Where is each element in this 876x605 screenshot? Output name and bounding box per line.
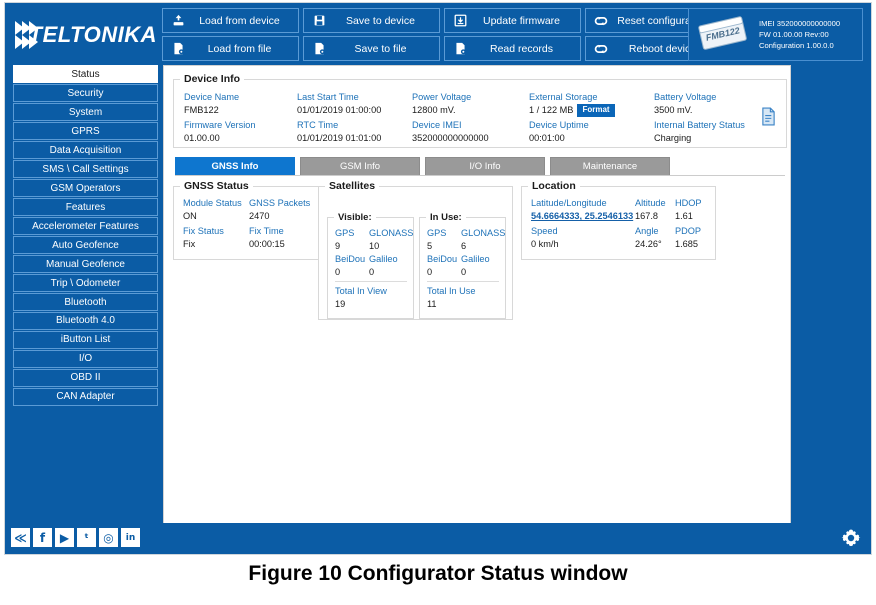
visible-glonass-label: GLONASS (369, 227, 413, 240)
configurator-window: TELTONIKA Load from device Save to devic… (4, 2, 872, 555)
inuse-galileo-field: Galileo 0 (461, 253, 505, 279)
hdop-value: 1.61 (675, 210, 715, 223)
imei-value: 352000000000000 (777, 19, 840, 28)
sidebar-item-security[interactable]: Security (13, 84, 158, 102)
format-button[interactable]: Format (577, 104, 614, 117)
satellites-in-use-title: In Use: (426, 212, 466, 223)
status-tabs: GNSS Info GSM Info I/O Info Maintenance (175, 156, 785, 176)
document-icon[interactable] (761, 107, 776, 131)
pdop-label: PDOP (675, 225, 715, 238)
device-imei-field: Device IMEI 352000000000000 (412, 119, 529, 147)
latlon-label: Latitude/Longitude (531, 197, 635, 210)
speed-value: 0 km/h (531, 238, 635, 251)
rtc-time-label: RTC Time (297, 119, 412, 132)
external-storage-label: External Storage (529, 91, 654, 104)
logo-text: TELTONIKA (29, 22, 157, 48)
gnss-packets-value: 2470 (249, 210, 319, 223)
device-name-value: FMB122 (184, 104, 297, 117)
sidebar-item-bluetooth[interactable]: Bluetooth (13, 293, 158, 311)
inuse-glonass-label: GLONASS (461, 227, 505, 240)
last-start-time-label: Last Start Time (297, 91, 412, 104)
sidebar-item-features[interactable]: Features (13, 198, 158, 216)
satellites-visible-group: Visible: GPS 9 GLONASS 10 BeiDou (327, 212, 414, 319)
gnss-status-grid: Module Status ON GNSS Packets 2470 Fix S… (174, 192, 319, 251)
load-from-device-button[interactable]: Load from device (162, 8, 299, 33)
app-header: TELTONIKA Load from device Save to devic… (5, 3, 871, 65)
sidebar-item-system[interactable]: System (13, 103, 158, 121)
location-grid: Latitude/Longitude 54.6664333, 25.254613… (522, 192, 715, 251)
visible-beidou-value: 0 (335, 266, 369, 279)
total-in-use-label: Total In Use (427, 285, 499, 298)
power-voltage-value: 12800 mV. (412, 104, 529, 117)
teltonika-chevrons-icon (15, 18, 28, 52)
sidebar-item-gsm-operators[interactable]: GSM Operators (13, 179, 158, 197)
rtc-time-value: 01/01/2019 01:01:00 (297, 132, 412, 145)
imei-key: IMEI (759, 18, 775, 29)
speed-label: Speed (531, 225, 635, 238)
visible-galileo-label: Galileo (369, 253, 413, 266)
total-in-use-value: 11 (427, 298, 499, 311)
visible-galileo-value: 0 (369, 266, 413, 279)
visible-gps-field: GPS 9 (335, 227, 369, 253)
latlon-value-link[interactable]: 54.6664333, 25.2546133 (531, 210, 635, 223)
device-uptime-label: Device Uptime (529, 119, 654, 132)
visible-glonass-value: 10 (369, 240, 413, 253)
last-start-time-field: Last Start Time 01/01/2019 01:00:00 (297, 91, 412, 119)
cfg-value: 1.00.0.0 (806, 41, 833, 50)
device-summary-box: FMB122 IMEI 352000000000000 FW 01.00.00 … (688, 8, 863, 61)
inuse-glonass-value: 6 (461, 240, 505, 253)
satellites-panel: Satellites Visible: GPS 9 GLONASS 10 (318, 180, 513, 320)
upload-device-icon (169, 13, 187, 29)
satellites-title: Satellites (325, 180, 379, 192)
device-name-field: Device Name FMB122 (184, 91, 297, 119)
fw-key: FW (759, 29, 771, 40)
cfg-key: Configuration (759, 40, 804, 51)
satellites-in-use-grid: GPS 5 GLONASS 6 BeiDou 0 (420, 223, 505, 279)
save-to-file-button[interactable]: Save to file (303, 36, 440, 61)
external-storage-field: External Storage 1 / 122 MB Format (529, 91, 654, 119)
inuse-gps-value: 5 (427, 240, 461, 253)
device-meta: IMEI 352000000000000 FW 01.00.00 Rev:00 … (757, 18, 862, 51)
instagram-icon[interactable]: ◎ (99, 528, 118, 547)
rtc-time-field: RTC Time 01/01/2019 01:01:00 (297, 119, 412, 147)
pdop-value: 1.685 (675, 238, 715, 251)
device-imei-label: Device IMEI (412, 119, 529, 132)
figure-caption: Figure 10 Configurator Status window (0, 562, 876, 586)
screenshot-root: TELTONIKA Load from device Save to devic… (0, 0, 876, 605)
inuse-gps-field: GPS 5 (427, 227, 461, 253)
inuse-beidou-field: BeiDou 0 (427, 253, 461, 279)
total-in-use-field: Total In Use 11 (427, 281, 499, 311)
visible-beidou-field: BeiDou 0 (335, 253, 369, 279)
fw-value: 01.00.00 Rev:00 (773, 30, 829, 39)
device-info-grid: Device Name FMB122 Last Start Time 01/01… (174, 85, 786, 147)
update-firmware-button[interactable]: Update firmware (444, 8, 581, 33)
pdop-field: PDOP 1.685 (675, 225, 715, 251)
sidebar-item-gprs[interactable]: GPRS (13, 122, 158, 140)
gear-icon[interactable] (841, 528, 861, 548)
reset-loop-icon (592, 13, 610, 29)
total-in-view-field: Total In View 19 (335, 281, 407, 311)
internal-battery-status-value: Charging (654, 132, 784, 145)
gnss-status-title: GNSS Status (180, 180, 253, 192)
altitude-value: 167.8 (635, 210, 675, 223)
tab-maintenance[interactable]: Maintenance (550, 157, 670, 175)
last-start-time-value: 01/01/2019 01:00:00 (297, 104, 412, 117)
tab-gsm-info[interactable]: GSM Info (300, 157, 420, 175)
altitude-field: Altitude 167.8 (635, 197, 675, 225)
reboot-loop-icon (592, 41, 610, 57)
save-to-device-button[interactable]: Save to device (303, 8, 440, 33)
fix-time-field: Fix Time 00:00:15 (249, 225, 319, 251)
device-info-title: Device Info (180, 73, 244, 85)
load-from-file-button[interactable]: Load from file (162, 36, 299, 61)
fix-status-label: Fix Status (183, 225, 249, 238)
save-disk-icon (310, 13, 328, 29)
fix-time-value: 00:00:15 (249, 238, 319, 251)
inuse-beidou-value: 0 (427, 266, 461, 279)
inuse-beidou-label: BeiDou (427, 253, 461, 266)
read-records-button[interactable]: Read records (444, 36, 581, 61)
battery-voltage-label: Battery Voltage (654, 91, 784, 104)
angle-label: Angle (635, 225, 675, 238)
angle-field: Angle 24.26° (635, 225, 675, 251)
firmware-version-value: 01.00.00 (184, 132, 297, 145)
sidebar-item-obd-ii[interactable]: OBD II (13, 369, 158, 387)
speed-field: Speed 0 km/h (531, 225, 635, 251)
read-records-label: Read records (473, 43, 580, 55)
fix-status-field: Fix Status Fix (183, 225, 249, 251)
visible-gps-value: 9 (335, 240, 369, 253)
teltonika-logo: TELTONIKA (11, 15, 157, 55)
inuse-galileo-label: Galileo (461, 253, 505, 266)
inuse-gps-label: GPS (427, 227, 461, 240)
firmware-version-label: Firmware Version (184, 119, 297, 132)
device-uptime-value: 00:01:00 (529, 132, 654, 145)
device-photo-icon: FMB122 (691, 13, 757, 57)
device-info-panel: Device Info Device Name FMB122 Last Star… (173, 73, 787, 148)
sidebar-nav: Status Security System GPRS Data Acquisi… (13, 65, 158, 407)
tab-gnss-info[interactable]: GNSS Info (175, 157, 295, 175)
sidebar-item-status[interactable]: Status (13, 65, 158, 83)
twitter-icon[interactable]: ᵗ (77, 528, 96, 547)
location-title: Location (528, 180, 580, 192)
satellites-visible-grid: GPS 9 GLONASS 10 BeiDou 0 (328, 223, 413, 279)
sidebar-item-data-acquisition[interactable]: Data Acquisition (13, 141, 158, 159)
load-from-device-label: Load from device (191, 15, 298, 27)
visible-glonass-field: GLONASS 10 (369, 227, 413, 253)
status-content-panel: Device Info Device Name FMB122 Last Star… (163, 65, 791, 525)
device-name-label: Device Name (184, 91, 297, 104)
app-footer: ≪ f ▶ ᵗ ◎ in (5, 523, 872, 554)
total-in-view-value: 19 (335, 298, 407, 311)
load-from-file-label: Load from file (191, 43, 298, 55)
power-voltage-field: Power Voltage 12800 mV. (412, 91, 529, 119)
sidebar-item-ibutton-list[interactable]: iButton List (13, 331, 158, 349)
teltonika-icon[interactable]: ≪ (11, 528, 30, 547)
device-imei-value: 352000000000000 (412, 132, 529, 145)
total-in-view-label: Total In View (335, 285, 407, 298)
location-panel: Location Latitude/Longitude 54.6664333, … (521, 180, 716, 260)
sidebar-item-sms-call-settings[interactable]: SMS \ Call Settings (13, 160, 158, 178)
fix-time-label: Fix Time (249, 225, 319, 238)
download-box-icon (451, 13, 469, 29)
gnss-packets-label: GNSS Packets (249, 197, 319, 210)
file-records-icon (451, 41, 469, 57)
device-uptime-field: Device Uptime 00:01:00 (529, 119, 654, 147)
fix-status-value: Fix (183, 238, 249, 251)
firmware-version-field: Firmware Version 01.00.00 (184, 119, 297, 147)
inuse-glonass-field: GLONASS 6 (461, 227, 505, 253)
satellites-visible-title: Visible: (334, 212, 376, 223)
sidebar-item-manual-geofence[interactable]: Manual Geofence (13, 255, 158, 273)
module-status-label: Module Status (183, 197, 249, 210)
external-storage-value-row: 1 / 122 MB Format (529, 104, 654, 117)
save-to-device-label: Save to device (332, 15, 439, 27)
sidebar-item-accelerometer-features[interactable]: Accelerometer Features (13, 217, 158, 235)
gnss-status-panel: GNSS Status Module Status ON GNSS Packet… (173, 180, 320, 260)
sidebar-item-auto-geofence[interactable]: Auto Geofence (13, 236, 158, 254)
sidebar-item-io[interactable]: I/O (13, 350, 158, 368)
visible-galileo-field: Galileo 0 (369, 253, 413, 279)
module-status-field: Module Status ON (183, 197, 249, 225)
altitude-label: Altitude (635, 197, 675, 210)
sidebar-item-can-adapter[interactable]: CAN Adapter (13, 388, 158, 406)
facebook-icon[interactable]: f (33, 528, 52, 547)
file-save-icon (310, 41, 328, 57)
sidebar-item-bluetooth-40[interactable]: Bluetooth 4.0 (13, 312, 158, 330)
linkedin-icon[interactable]: in (121, 528, 140, 547)
hdop-label: HDOP (675, 197, 715, 210)
visible-gps-label: GPS (335, 227, 369, 240)
sidebar-item-trip-odometer[interactable]: Trip \ Odometer (13, 274, 158, 292)
file-load-icon (169, 41, 187, 57)
angle-value: 24.26° (635, 238, 675, 251)
hdop-field: HDOP 1.61 (675, 197, 715, 225)
youtube-icon[interactable]: ▶ (55, 528, 74, 547)
update-firmware-label: Update firmware (473, 15, 580, 27)
tab-io-info[interactable]: I/O Info (425, 157, 545, 175)
social-links: ≪ f ▶ ᵗ ◎ in (11, 528, 140, 547)
module-status-value: ON (183, 210, 249, 223)
external-storage-value: 1 / 122 MB (529, 104, 573, 117)
latlon-field: Latitude/Longitude 54.6664333, 25.254613… (531, 197, 635, 225)
gnss-packets-field: GNSS Packets 2470 (249, 197, 319, 225)
satellites-in-use-group: In Use: GPS 5 GLONASS 6 BeiDou (419, 212, 506, 319)
visible-beidou-label: BeiDou (335, 253, 369, 266)
save-to-file-label: Save to file (332, 43, 439, 55)
power-voltage-label: Power Voltage (412, 91, 529, 104)
main-toolbar: Load from device Save to device Update f… (162, 8, 722, 61)
inuse-galileo-value: 0 (461, 266, 505, 279)
